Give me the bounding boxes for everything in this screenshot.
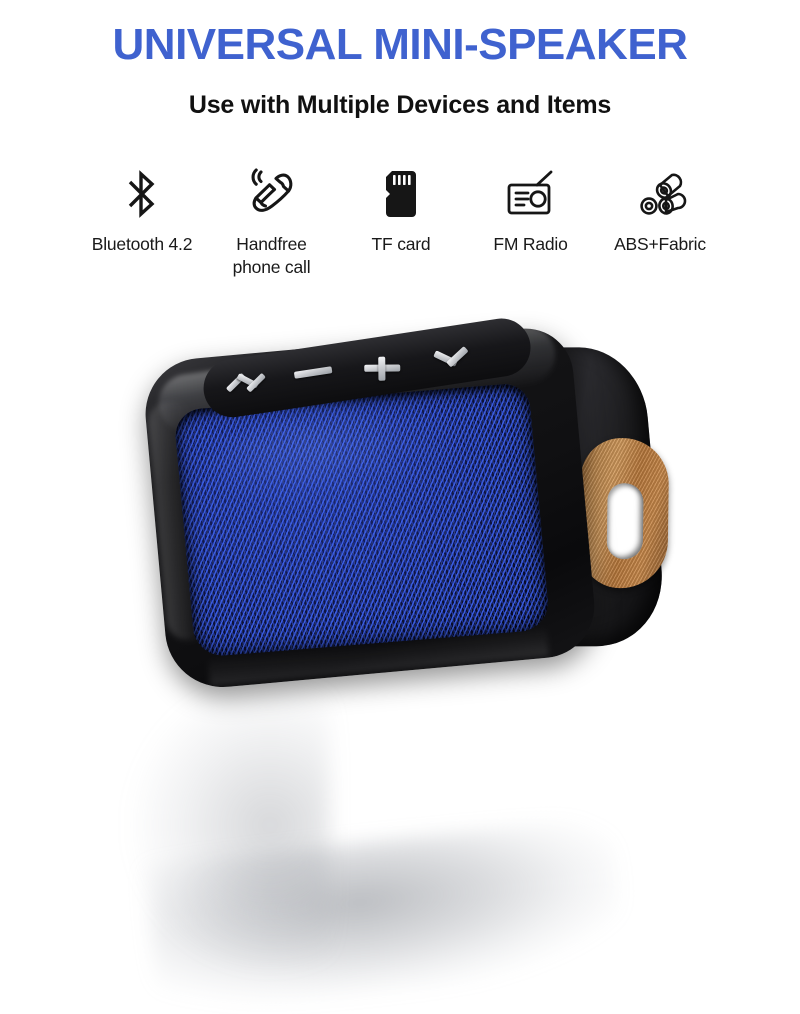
plus-bar-vertical: [378, 357, 385, 381]
feature-label-bluetooth: Bluetooth 4.2: [92, 233, 193, 256]
feature-label-tf-card: TF card: [372, 233, 431, 256]
feature-item-abs-fabric: ABS+Fabric: [596, 163, 724, 256]
volume-up-button[interactable]: [361, 354, 404, 382]
page-title: UNIVERSAL MINI-SPEAKER: [0, 22, 800, 68]
mode-button[interactable]: [224, 370, 267, 396]
feature-item-handsfree: Handfree phone call: [208, 163, 336, 279]
feature-label-handsfree-line2: phone call: [233, 257, 311, 277]
play-next-button[interactable]: [433, 349, 474, 374]
handsfree-phone-call-icon: [245, 163, 299, 225]
feature-label-fm-radio: FM Radio: [493, 233, 567, 256]
product-side-shadow: [130, 680, 330, 970]
tf-card-icon: [381, 163, 421, 225]
bluetooth-icon: [125, 163, 159, 225]
carry-strap-loop: [579, 438, 669, 589]
product-image: [0, 300, 800, 800]
page-subtitle: Use with Multiple Devices and Items: [0, 91, 800, 120]
feature-label-handsfree-line1: Handfree: [236, 234, 306, 254]
product-marketing-banner: UNIVERSAL MINI-SPEAKER Use with Multiple…: [0, 0, 800, 800]
feature-list: Bluetooth 4.2 Handfree: [78, 163, 724, 279]
volume-down-button[interactable]: [294, 366, 333, 379]
grille-highlight: [210, 398, 467, 517]
fm-radio-icon: [504, 163, 558, 225]
feature-item-tf-card: TF card: [337, 163, 465, 256]
speaker-fabric-grille: [173, 382, 550, 658]
feature-item-fm-radio: FM Radio: [467, 163, 595, 256]
feature-label-abs-fabric: ABS+Fabric: [614, 233, 706, 256]
bluetooth-speaker: [141, 318, 672, 722]
fabric-rolls-icon: [633, 163, 687, 225]
feature-item-bluetooth: Bluetooth 4.2: [78, 163, 206, 256]
strap-opening: [607, 483, 644, 559]
feature-label-handsfree: Handfree phone call: [233, 233, 311, 279]
